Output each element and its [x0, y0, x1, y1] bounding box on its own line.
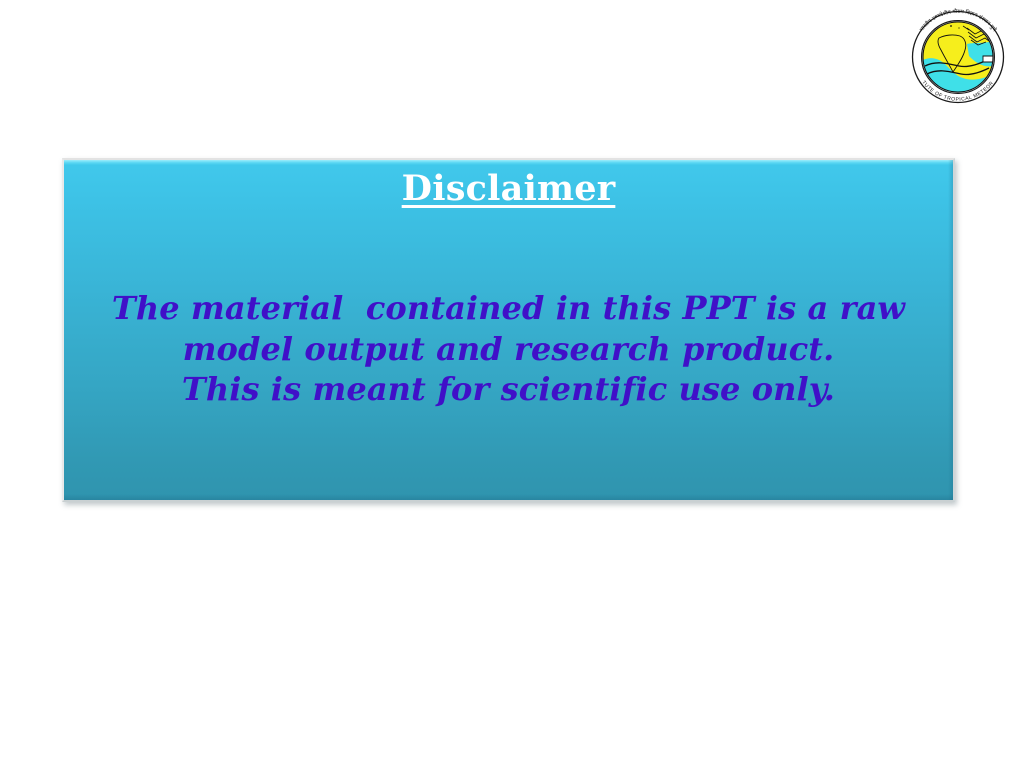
- panel-bottom-shadow: [64, 494, 953, 500]
- disclaimer-line-1: The material contained in this PPT is a …: [88, 288, 929, 329]
- disclaimer-line-3: This is meant for scientific use only.: [88, 369, 929, 410]
- disclaimer-line-2: model output and research product.: [88, 329, 929, 370]
- panel-right-shadow: [948, 160, 953, 500]
- iitm-pune-logo-graphic: भारतीय उष्णदेशीय मौसम विज्ञान संस्थान पु…: [905, 4, 1011, 110]
- iitm-pune-logo: भारतीय उष्णदेशीय मौसम विज्ञान संस्थान पु…: [905, 4, 1011, 110]
- slide-canvas: भारतीय उष्णदेशीय मौसम विज्ञान संस्थान पु…: [0, 0, 1024, 768]
- disclaimer-title: Disclaimer: [64, 167, 953, 211]
- disclaimer-panel: Disclaimer The material contained in thi…: [62, 158, 955, 502]
- disclaimer-body-text: The material contained in this PPT is a …: [88, 288, 929, 410]
- panel-top-highlight: [64, 160, 953, 165]
